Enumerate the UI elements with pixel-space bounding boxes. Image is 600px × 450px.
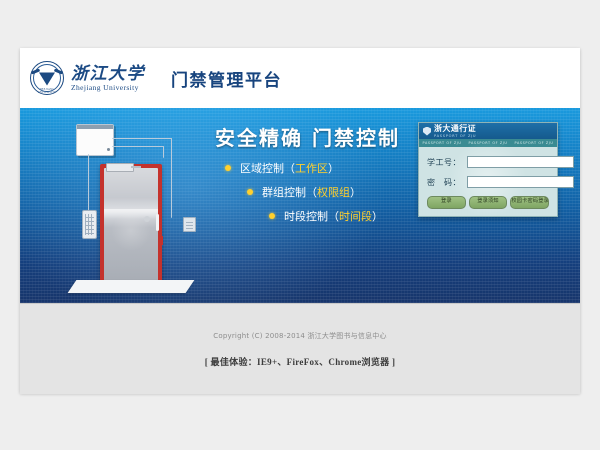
door-strike-icon xyxy=(159,236,163,245)
stripe-text: PASSPORT OF ZJU xyxy=(469,141,508,145)
login-panel-header: 浙大通行证 PASSPORT OF ZJU xyxy=(419,123,557,139)
list-item: 区域控制（ 工作区 ） xyxy=(225,160,383,176)
bullet-dot-icon xyxy=(225,165,231,171)
door-closer-icon xyxy=(106,163,134,172)
login-notice-button[interactable]: 登录须知 xyxy=(469,196,508,209)
door-leaf xyxy=(104,168,158,282)
stripe-text: PASSPORT OF ZJU xyxy=(423,141,462,145)
feature-label: 群组控制（ xyxy=(262,184,317,200)
bullet-dot-icon xyxy=(247,189,253,195)
feature-accent: 权限组 xyxy=(317,184,350,200)
site-header: ZHEJIANG UNIVERSITY 浙江大学 Zhejiang Univer… xyxy=(20,48,580,108)
wire-top-2 xyxy=(112,146,164,148)
door-handle-icon xyxy=(156,214,159,231)
wire-to-reader xyxy=(88,154,90,211)
list-item: 群组控制（ 权限组 ） xyxy=(247,184,383,200)
stripe-text: PASSPORT OF ZJU xyxy=(515,141,554,145)
wordmark-en: Zhejiang University xyxy=(71,84,145,92)
wordmark-cn: 浙江大学 xyxy=(71,65,145,82)
password-label: 密 码： xyxy=(427,177,467,188)
feature-accent: 工作区 xyxy=(295,160,328,176)
password-row: 密 码： xyxy=(427,176,549,188)
feature-accent: 时间段 xyxy=(339,208,372,224)
door-frame xyxy=(100,164,162,282)
username-label: 学工号： xyxy=(427,157,467,168)
passport-watermark-stripe: PASSPORT OF ZJU PASSPORT OF ZJU PASSPORT… xyxy=(419,139,557,147)
banner-slogan: 安全精确 门禁控制 xyxy=(215,122,400,151)
login-form: 学工号： 密 码： 登录 登录须知 校园卡密码登录 xyxy=(419,147,557,216)
list-item: 时段控制（ 时间段 ） xyxy=(269,208,383,224)
feature-tail: ） xyxy=(328,160,339,176)
feature-label: 时段控制（ xyxy=(284,208,339,224)
wire-top-1 xyxy=(112,138,172,140)
browser-support-text: [ 最佳体验：IE9+、FireFox、Chrome浏览器 ] xyxy=(205,355,396,368)
keypad-reader-icon xyxy=(82,210,97,239)
controller-box-icon xyxy=(76,124,114,156)
copyright-text: Copyright (C) 2008-2014 浙江大学图书与信息中心 xyxy=(213,331,386,341)
login-panel-title: 浙大通行证 xyxy=(434,125,476,133)
zju-wordmark: 浙江大学 Zhejiang University xyxy=(71,65,145,92)
bullet-dot-icon xyxy=(269,213,275,219)
feature-list: 区域控制（ 工作区 ） 群组控制（ 权限组 ） 时段控制（ 时间段 ） xyxy=(225,160,383,232)
floor-plane xyxy=(68,280,195,293)
access-control-door-illustration xyxy=(58,124,198,296)
wire-drop xyxy=(163,146,165,158)
feature-tail: ） xyxy=(372,208,383,224)
username-row: 学工号： xyxy=(427,156,549,168)
page-container: ZHEJIANG UNIVERSITY 浙江大学 Zhejiang Univer… xyxy=(20,48,580,393)
login-panel: 浙大通行证 PASSPORT OF ZJU PASSPORT OF ZJU PA… xyxy=(418,122,558,217)
login-panel-subtitle: PASSPORT OF ZJU xyxy=(434,134,476,138)
campus-card-login-button[interactable]: 校园卡密码登录 xyxy=(510,196,549,209)
emblem-arc-text: ZHEJIANG UNIVERSITY xyxy=(30,88,64,94)
username-input[interactable] xyxy=(467,156,574,168)
wire-to-sensor xyxy=(171,138,173,218)
login-button[interactable]: 登录 xyxy=(427,196,466,209)
site-footer: Copyright (C) 2008-2014 浙江大学图书与信息中心 [ 最佳… xyxy=(20,303,580,394)
shield-icon xyxy=(423,127,431,136)
door-knob-icon xyxy=(144,216,150,222)
feature-tail: ） xyxy=(350,184,361,200)
page-title: 门禁管理平台 xyxy=(171,66,282,91)
password-input[interactable] xyxy=(467,176,574,188)
hero-banner: 安全精确 门禁控制 区域控制（ 工作区 ） 群组控制（ 权限组 ） 时段控制（ … xyxy=(20,108,580,303)
zju-emblem-icon: ZHEJIANG UNIVERSITY xyxy=(30,61,64,95)
login-button-row: 登录 登录须知 校园卡密码登录 xyxy=(427,196,549,209)
feature-label: 区域控制（ xyxy=(240,160,295,176)
door-sensor-icon xyxy=(183,217,196,232)
